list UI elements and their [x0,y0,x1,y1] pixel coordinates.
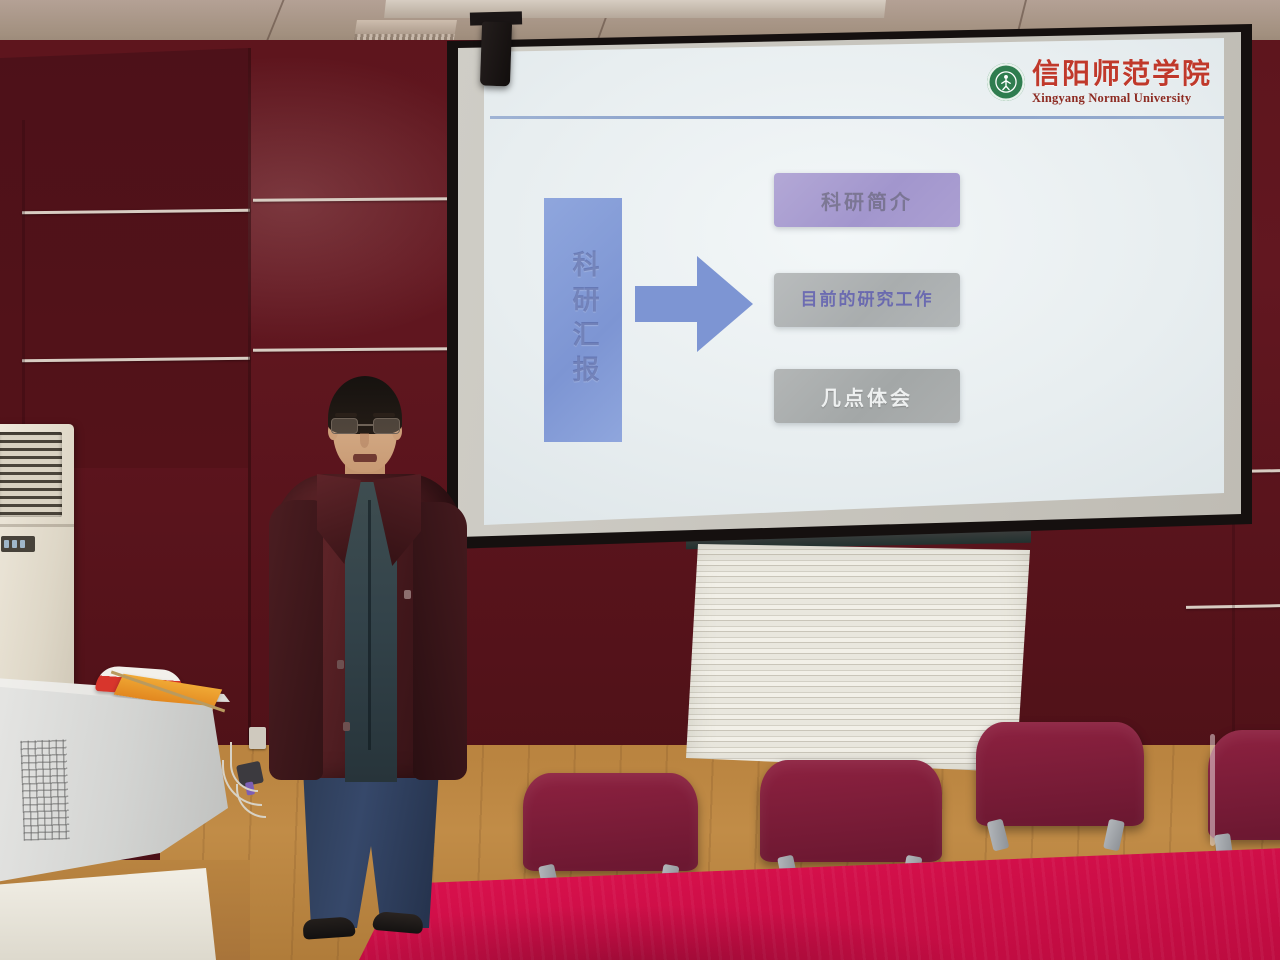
presenter-right-arm [413,502,467,780]
slide-topic-item: 目前的研究工作 [774,273,960,327]
podium-speaker-grille [20,739,69,841]
slide-topic-item: 几点体会 [774,369,960,423]
ceiling-light-strip [384,0,886,18]
institution-name-cn: 信阳师范学院 [1032,60,1212,88]
presenter-left-arm [269,500,323,780]
presenter [265,370,495,960]
presenter-mouth [353,454,377,462]
institution-logo: 信阳师范学院 Xingyang Normal University [987,60,1212,105]
ac-control-panel[interactable] [1,536,35,552]
chair[interactable] [760,760,946,880]
lecture-room-photo: 信阳师范学院 Xingyang Normal University 科研汇报 科… [0,0,1280,960]
slide-topic-label: 几点体会 [821,382,913,411]
left-wall-panel [0,48,248,468]
slide-vertical-title-bar: 科研汇报 [544,198,622,442]
institution-name-en: Xingyang Normal University [1032,92,1212,105]
university-seal-icon [987,63,1025,101]
slide-topic-list: 科研简介 目前的研究工作 几点体会 [774,173,964,423]
eyeglasses-icon [329,418,402,435]
right-arrow-icon [635,250,755,358]
chair[interactable] [976,722,1148,846]
slide-topic-label: 目前的研究工作 [801,290,934,311]
slide-divider [490,116,1224,119]
ac-vent-grille [0,432,62,517]
presentation-slide: 信阳师范学院 Xingyang Normal University 科研汇报 科… [484,38,1224,525]
ceiling-projector [480,21,512,86]
slide-topic-item: 科研简介 [774,173,960,227]
slide-topic-label: 科研简介 [821,186,913,215]
slide-vertical-title: 科研汇报 [564,250,603,390]
presenter-shoe [302,916,355,940]
projection-screen[interactable]: 信阳师范学院 Xingyang Normal University 科研汇报 科… [484,38,1224,525]
presenter-trousers [301,768,441,928]
chair[interactable] [1208,730,1280,854]
